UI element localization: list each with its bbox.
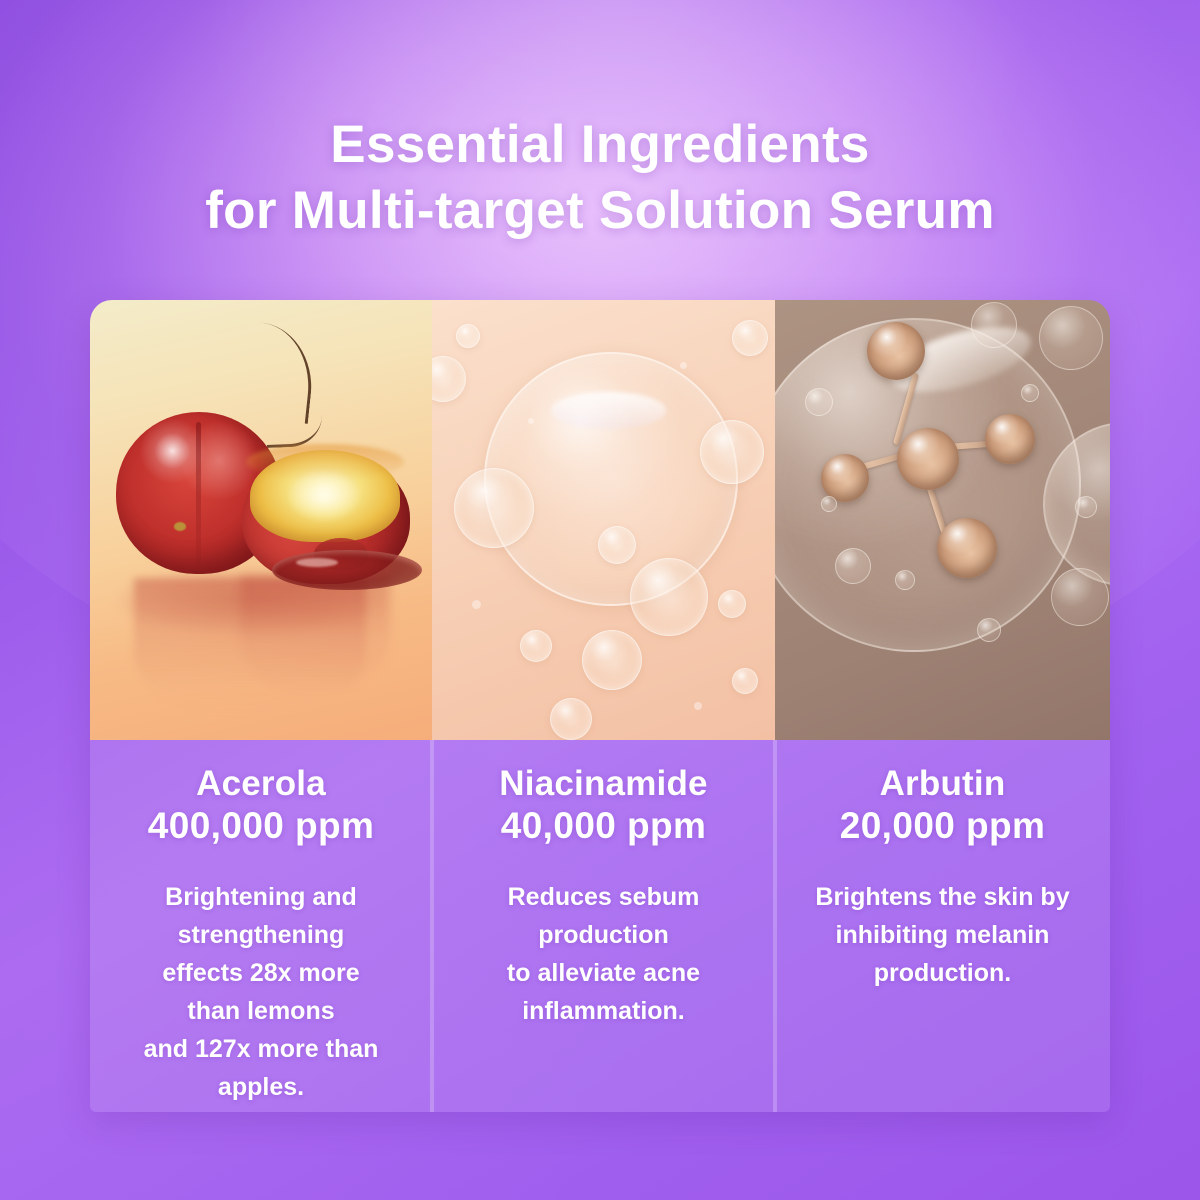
description-line: than lemons [104,992,418,1030]
bubble-speck [472,600,481,609]
ingredient-name: Acerola [104,764,418,804]
molecule-atom-left [821,454,869,502]
molecule-atom-center [897,428,959,490]
cherry-blossom-end [174,522,186,531]
bubble-small [520,630,552,662]
cherry-reflection-secondary [240,576,390,692]
bubble-small [598,526,636,564]
ingredient-column-niacinamide: Niacinamide 40,000 ppm Reduces sebum pro… [432,740,775,1112]
bubble-small [456,324,480,348]
bubble-small [432,356,466,402]
description-line: strengthening [104,916,418,954]
description-line: effects 28x more [104,954,418,992]
ingredient-concentration: 20,000 ppm [789,804,1096,848]
ingredient-description: Brightens the skin by inhibiting melanin… [789,878,1096,992]
cherry-stem-lower [265,395,323,448]
water-droplet [821,496,837,512]
ingredient-description: Reduces sebum production to alleviate ac… [446,878,761,1030]
description-line: production [446,916,761,954]
page-title: Essential Ingredients for Multi-target S… [0,112,1200,244]
page-title-line-2: for Multi-target Solution Serum [0,178,1200,244]
bubble-small [732,320,768,356]
water-droplet [895,570,915,590]
water-droplet [1021,384,1039,402]
water-droplet [805,388,833,416]
molecule-atom-top [867,322,925,380]
description-line: Brightening and [104,878,418,916]
bubble-speck [694,702,702,710]
bubble-small [550,698,592,740]
juice-highlight [296,558,338,567]
acerola-cherries-photo [90,300,432,740]
bubble-small [1039,306,1103,370]
bubble-small [630,558,708,636]
description-line: apples. [104,1068,418,1106]
ingredient-column-acerola: Acerola 400,000 ppm Brightening and stre… [90,740,432,1112]
description-line: inhibiting melanin [789,916,1096,954]
bubble-small [700,420,764,484]
description-line: Brightens the skin by [789,878,1096,916]
ingredients-card: Acerola 400,000 ppm Brightening and stre… [90,300,1110,1112]
bubble-small [454,468,534,548]
water-droplet [977,618,1001,642]
description-line: inflammation. [446,992,761,1030]
description-line: Reduces sebum [446,878,761,916]
bubble-small [582,630,642,690]
molecule-atom-right [985,414,1035,464]
bubble-small [971,302,1017,348]
bubble-small [718,590,746,618]
ingredients-infographic: Essential Ingredients for Multi-target S… [0,0,1200,1200]
description-line: production. [789,954,1096,992]
ingredient-photo-strip [90,300,1110,740]
ingredient-concentration: 400,000 ppm [104,804,418,848]
bubble-small [1051,568,1109,626]
water-droplet [835,548,871,584]
bubble-speck [528,418,534,424]
water-droplet [1075,496,1097,518]
halved-cherry-core-highlight [286,470,362,522]
serum-bubbles-photo [432,300,775,740]
molecule-in-bubble-photo [775,300,1110,740]
ingredient-name: Niacinamide [446,764,761,804]
ingredient-description: Brightening and strengthening effects 28… [104,878,418,1106]
bubble-speck [680,362,687,369]
molecule-atom-bottom [937,518,997,578]
ingredient-concentration: 40,000 ppm [446,804,761,848]
juice-pool [272,550,422,590]
ingredient-column-arbutin: Arbutin 20,000 ppm Brightens the skin by… [775,740,1110,1112]
bubble-small [732,668,758,694]
description-line: to alleviate acne [446,954,761,992]
page-title-line-1: Essential Ingredients [0,112,1200,178]
description-line: and 127x more than [104,1030,418,1068]
ingredient-text-panel: Acerola 400,000 ppm Brightening and stre… [90,740,1110,1112]
ingredient-name: Arbutin [789,764,1096,804]
